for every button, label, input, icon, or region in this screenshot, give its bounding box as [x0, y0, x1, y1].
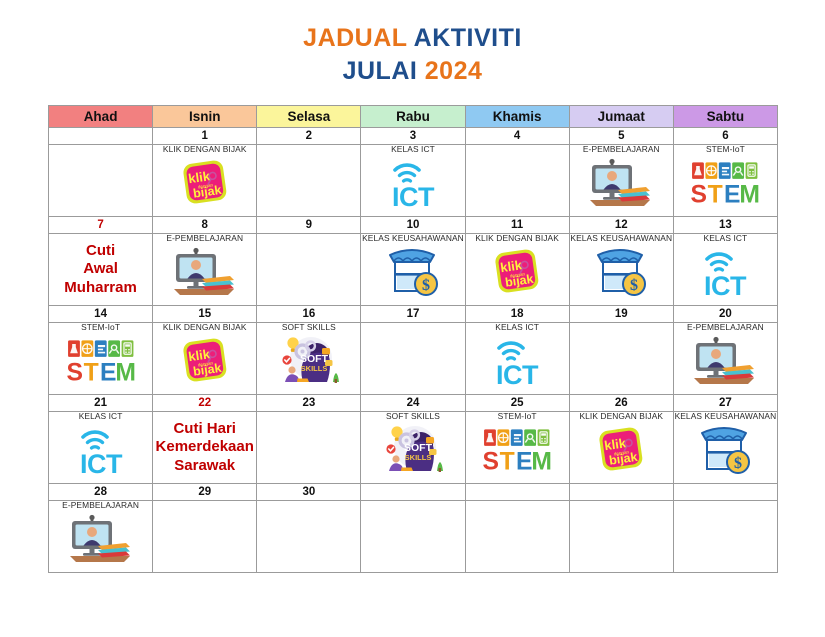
- weekday-header-jumaat: Jumaat: [569, 106, 673, 128]
- title-line-1: JADUAL AKTIVITI: [0, 22, 825, 55]
- svg-text:S: S: [483, 449, 499, 474]
- date-number-30[interactable]: 30: [257, 484, 361, 501]
- event-icon-holder: ICT: [674, 244, 777, 300]
- day-cell-13[interactable]: KELAS ICT ICT: [673, 234, 777, 306]
- event-icon-holder: [153, 244, 256, 300]
- kelas-ict-wifi-icon: ICT: [694, 245, 756, 299]
- weekday-header-khamis: Khamis: [465, 106, 569, 128]
- svg-text:M: M: [115, 360, 136, 385]
- svg-text:M: M: [532, 449, 553, 474]
- klik-dengan-bijak-logo: klik dengan bijak: [177, 157, 233, 209]
- svg-text:M: M: [740, 182, 761, 207]
- svg-text:ICT: ICT: [704, 271, 747, 299]
- event-label: STEM-IoT: [49, 323, 152, 332]
- date-number-5[interactable]: 5: [569, 128, 673, 145]
- event-icon-holder: ICT: [361, 155, 464, 211]
- day-cell-30: [257, 501, 361, 573]
- klik-dengan-bijak-logo: klik dengan bijak: [593, 424, 649, 476]
- day-cell-18[interactable]: KELAS ICT ICT: [465, 323, 569, 395]
- date-number-empty: [361, 484, 465, 501]
- date-number-18[interactable]: 18: [465, 306, 569, 323]
- e-pembelajaran-monitor-books-icon: [692, 334, 758, 388]
- stem-iot-logo: S T E M: [482, 426, 552, 474]
- day-cell-4: [465, 145, 569, 217]
- event-label: E-PEMBELAJARAN: [570, 145, 673, 154]
- e-pembelajaran-monitor-books-icon: [588, 156, 654, 210]
- title-jadual: JADUAL: [303, 24, 413, 52]
- event-row: KELAS ICT ICT Cuti HariKemerdekaanSarawa…: [49, 412, 778, 484]
- date-number-28[interactable]: 28: [49, 484, 153, 501]
- svg-text:E: E: [724, 182, 740, 207]
- event-label: SOFT SKILLS: [361, 412, 464, 421]
- svg-text:SKILLS: SKILLS: [301, 364, 328, 373]
- svg-text:S: S: [691, 182, 707, 207]
- klik-dengan-bijak-logo: klik dengan bijak: [489, 246, 545, 298]
- day-cell-19: [569, 323, 673, 395]
- event-icon-holder: [49, 511, 152, 567]
- event-label: KELAS ICT: [361, 145, 464, 154]
- date-number-12[interactable]: 12: [569, 217, 673, 234]
- weekday-header-selasa: Selasa: [257, 106, 361, 128]
- svg-text:T: T: [500, 449, 515, 474]
- event-label: STEM-IoT: [466, 412, 569, 421]
- event-label: KLIK DENGAN BIJAK: [570, 412, 673, 421]
- day-cell-25[interactable]: STEM-IoT S T E M: [465, 412, 569, 484]
- event-label: KLIK DENGAN BIJAK: [153, 145, 256, 154]
- date-number-29[interactable]: 29: [153, 484, 257, 501]
- event-icon-holder: klik dengan bijak: [570, 422, 673, 478]
- event-icon-holder: S T E M: [466, 422, 569, 478]
- event-label: KELAS KEUSAHAWANAN: [570, 234, 673, 243]
- kelas-keusahawanan-shop-icon: $: [697, 423, 753, 477]
- svg-text:T: T: [83, 360, 98, 385]
- kelas-ict-wifi-icon: ICT: [382, 156, 444, 210]
- day-cell-24[interactable]: SOFT SKILLS SOFT SKILLS: [361, 412, 465, 484]
- event-icon-holder: SOFT SKILLS: [361, 422, 464, 478]
- svg-text:ICT: ICT: [80, 449, 123, 477]
- event-icon-holder: $: [674, 422, 777, 478]
- svg-text:$: $: [422, 277, 430, 294]
- klik-dengan-bijak-logo: klik dengan bijak: [177, 335, 233, 387]
- svg-text:SKILLS: SKILLS: [405, 453, 432, 462]
- event-label: STEM-IoT: [674, 145, 777, 154]
- event-icon-holder: $: [570, 244, 673, 300]
- e-pembelajaran-monitor-books-icon: [68, 512, 134, 566]
- title-line-2: JULAI 2024: [0, 55, 825, 88]
- day-cell-7[interactable]: CutiAwalMuharram: [49, 234, 153, 306]
- day-cell-empty: [361, 501, 465, 573]
- title-aktiviti: AKTIVITI: [414, 24, 522, 52]
- svg-text:T: T: [708, 182, 723, 207]
- event-label: KLIK DENGAN BIJAK: [466, 234, 569, 243]
- weekday-header-sabtu: Sabtu: [673, 106, 777, 128]
- event-label: KELAS KEUSAHAWANAN: [361, 234, 464, 243]
- day-cell-26[interactable]: KLIK DENGAN BIJAK klik dengan bijak: [569, 412, 673, 484]
- date-number-20[interactable]: 20: [673, 306, 777, 323]
- day-cell-5[interactable]: E-PEMBELAJARAN: [569, 145, 673, 217]
- day-cell-10[interactable]: KELAS KEUSAHAWANAN $: [361, 234, 465, 306]
- day-cell-22[interactable]: Cuti HariKemerdekaanSarawak: [153, 412, 257, 484]
- date-number-empty: [465, 484, 569, 501]
- day-cell-11[interactable]: KLIK DENGAN BIJAK klik dengan bijak: [465, 234, 569, 306]
- date-number-2[interactable]: 2: [257, 128, 361, 145]
- day-cell-27[interactable]: KELAS KEUSAHAWANAN $: [673, 412, 777, 484]
- event-label: E-PEMBELAJARAN: [153, 234, 256, 243]
- day-cell-17: [361, 323, 465, 395]
- event-icon-holder: ICT: [466, 333, 569, 389]
- event-icon-holder: klik dengan bijak: [466, 244, 569, 300]
- date-number-7[interactable]: 7: [49, 217, 153, 234]
- day-cell-29: [153, 501, 257, 573]
- day-cell-3[interactable]: KELAS ICT ICT: [361, 145, 465, 217]
- event-row: E-PEMBELAJARAN: [49, 501, 778, 573]
- date-number-1[interactable]: 1: [153, 128, 257, 145]
- date-number-6[interactable]: 6: [673, 128, 777, 145]
- date-number-15[interactable]: 15: [153, 306, 257, 323]
- holiday-label: CutiAwalMuharram: [49, 234, 152, 297]
- calendar-table-wrapper: AhadIsninSelasaRabuKhamisJumaatSabtu 123…: [48, 105, 778, 573]
- event-row: CutiAwalMuharramE-PEMBELAJARAN KELAS KEU…: [49, 234, 778, 306]
- svg-text:ICT: ICT: [496, 360, 539, 388]
- page-title: JADUAL AKTIVITI JULAI 2024: [0, 0, 825, 88]
- soft-skills-head-logo: SOFT SKILLS: [273, 334, 345, 388]
- event-label: SOFT SKILLS: [257, 323, 360, 332]
- date-number-8[interactable]: 8: [153, 217, 257, 234]
- date-number-22[interactable]: 22: [153, 395, 257, 412]
- title-julai: JULAI: [343, 57, 425, 85]
- event-icon-holder: S T E M: [674, 155, 777, 211]
- soft-skills-head-logo: SOFT SKILLS: [377, 423, 449, 477]
- weekday-header-ahad: Ahad: [49, 106, 153, 128]
- event-icon-holder: ICT: [49, 422, 152, 478]
- day-cell-21[interactable]: KELAS ICT ICT: [49, 412, 153, 484]
- date-number-16[interactable]: 16: [257, 306, 361, 323]
- date-row: 14151617181920: [49, 306, 778, 323]
- svg-text:E: E: [516, 449, 532, 474]
- event-label: E-PEMBELAJARAN: [49, 501, 152, 510]
- day-cell-empty: [49, 145, 153, 217]
- date-number-9[interactable]: 9: [257, 217, 361, 234]
- svg-text:E: E: [100, 360, 116, 385]
- event-icon-holder: [570, 155, 673, 211]
- event-row: STEM-IoT S T E M KLIK DENGAN BIJAK klik …: [49, 323, 778, 395]
- title-year: 2024: [425, 57, 483, 85]
- event-icon-holder: S T E M: [49, 333, 152, 389]
- date-number-10[interactable]: 10: [361, 217, 465, 234]
- calendar-page: JADUAL AKTIVITI JULAI 2024 AhadIsninSela…: [0, 0, 825, 637]
- kelas-keusahawanan-shop-icon: $: [385, 245, 441, 299]
- date-number-14[interactable]: 14: [49, 306, 153, 323]
- date-number-empty: [673, 484, 777, 501]
- day-cell-8[interactable]: E-PEMBELAJARAN: [153, 234, 257, 306]
- day-cell-20[interactable]: E-PEMBELAJARAN: [673, 323, 777, 395]
- weekday-header-rabu: Rabu: [361, 106, 465, 128]
- day-cell-28[interactable]: E-PEMBELAJARAN: [49, 501, 153, 573]
- date-number-empty: [49, 128, 153, 145]
- svg-text:$: $: [734, 455, 742, 472]
- stem-iot-logo: S T E M: [66, 337, 136, 385]
- holiday-label: Cuti HariKemerdekaanSarawak: [153, 412, 256, 475]
- kelas-keusahawanan-shop-icon: $: [593, 245, 649, 299]
- date-number-25[interactable]: 25: [465, 395, 569, 412]
- calendar-table: AhadIsninSelasaRabuKhamisJumaatSabtu 123…: [48, 105, 778, 573]
- day-cell-16[interactable]: SOFT SKILLS SOFT SKILLS: [257, 323, 361, 395]
- event-icon-holder: [674, 333, 777, 389]
- day-cell-9: [257, 234, 361, 306]
- day-cell-12[interactable]: KELAS KEUSAHAWANAN $: [569, 234, 673, 306]
- event-label: E-PEMBELAJARAN: [674, 323, 777, 332]
- date-number-4[interactable]: 4: [465, 128, 569, 145]
- svg-text:S: S: [66, 360, 82, 385]
- weekday-header-isnin: Isnin: [153, 106, 257, 128]
- date-row: 123456: [49, 128, 778, 145]
- event-icon-holder: SOFT SKILLS: [257, 333, 360, 389]
- day-cell-empty: [465, 501, 569, 573]
- event-row: KLIK DENGAN BIJAK klik dengan bijak KELA…: [49, 145, 778, 217]
- kelas-ict-wifi-icon: ICT: [70, 423, 132, 477]
- day-cell-2: [257, 145, 361, 217]
- event-label: KELAS ICT: [49, 412, 152, 421]
- svg-text:$: $: [630, 277, 638, 294]
- event-icon-holder: $: [361, 244, 464, 300]
- event-label: KLIK DENGAN BIJAK: [153, 323, 256, 332]
- event-label: KELAS ICT: [674, 234, 777, 243]
- date-number-21[interactable]: 21: [49, 395, 153, 412]
- date-number-empty: [569, 484, 673, 501]
- day-cell-14[interactable]: STEM-IoT S T E M: [49, 323, 153, 395]
- date-number-26[interactable]: 26: [569, 395, 673, 412]
- day-cell-1[interactable]: KLIK DENGAN BIJAK klik dengan bijak: [153, 145, 257, 217]
- date-number-11[interactable]: 11: [465, 217, 569, 234]
- date-row: 78910111213: [49, 217, 778, 234]
- day-cell-15[interactable]: KLIK DENGAN BIJAK klik dengan bijak: [153, 323, 257, 395]
- kelas-ict-wifi-icon: ICT: [486, 334, 548, 388]
- day-cell-6[interactable]: STEM-IoT S T E M: [673, 145, 777, 217]
- event-label: KELAS ICT: [466, 323, 569, 332]
- stem-iot-logo: S T E M: [690, 159, 760, 207]
- date-row: 282930: [49, 484, 778, 501]
- e-pembelajaran-monitor-books-icon: [172, 245, 238, 299]
- date-number-23[interactable]: 23: [257, 395, 361, 412]
- day-cell-empty: [569, 501, 673, 573]
- day-cell-empty: [673, 501, 777, 573]
- event-icon-holder: klik dengan bijak: [153, 333, 256, 389]
- event-icon-holder: klik dengan bijak: [153, 155, 256, 211]
- date-row: 21222324252627: [49, 395, 778, 412]
- date-number-27[interactable]: 27: [673, 395, 777, 412]
- date-number-19[interactable]: 19: [569, 306, 673, 323]
- date-number-13[interactable]: 13: [673, 217, 777, 234]
- day-cell-23: [257, 412, 361, 484]
- date-number-3[interactable]: 3: [361, 128, 465, 145]
- date-number-24[interactable]: 24: [361, 395, 465, 412]
- svg-text:ICT: ICT: [392, 182, 435, 210]
- date-number-17[interactable]: 17: [361, 306, 465, 323]
- event-label: KELAS KEUSAHAWANAN: [674, 412, 777, 421]
- weekday-header-row: AhadIsninSelasaRabuKhamisJumaatSabtu: [49, 106, 778, 128]
